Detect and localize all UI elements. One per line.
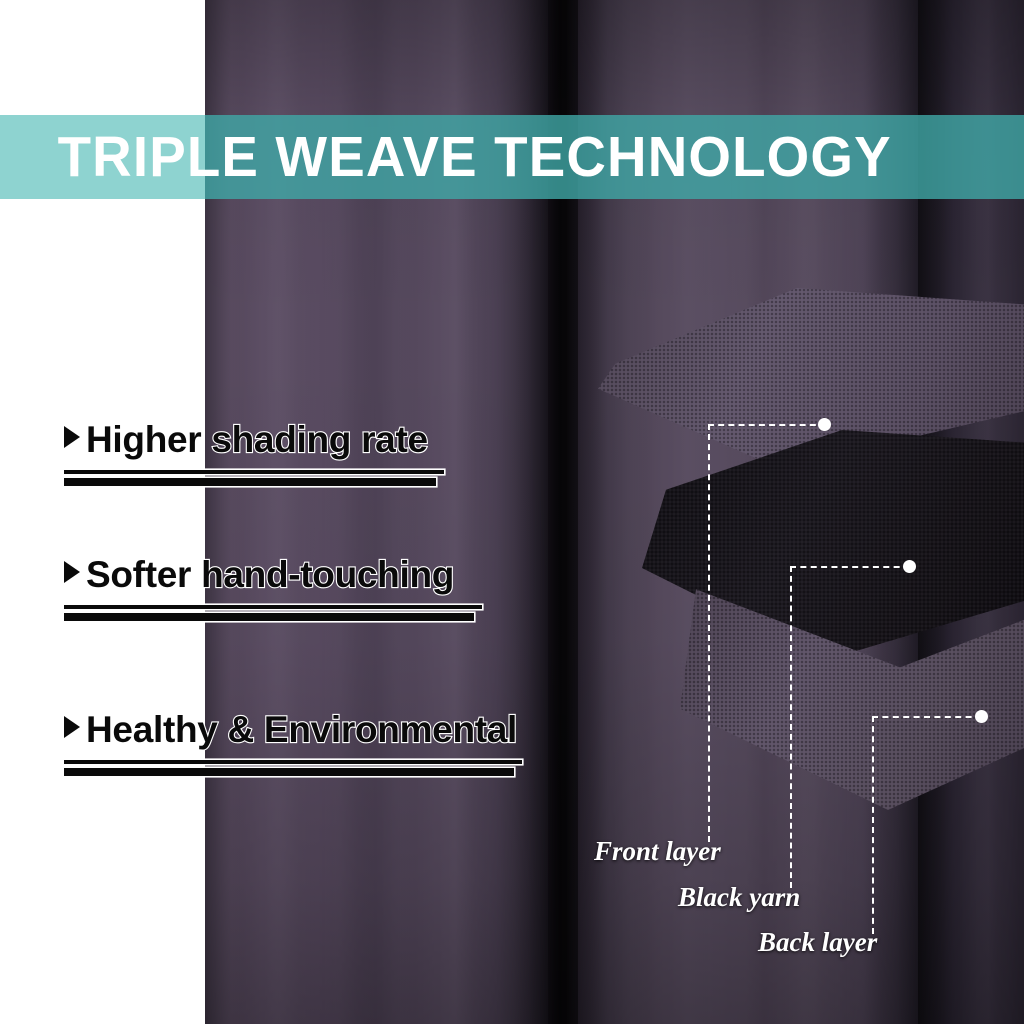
feature-label: Softer hand-touching bbox=[86, 556, 454, 593]
layer-label-black-yarn: Black yarn bbox=[678, 884, 800, 911]
feature-item-softer-hand-touching: Softer hand-touching bbox=[64, 556, 454, 623]
feature-underline bbox=[64, 468, 428, 488]
triangle-right-icon bbox=[64, 716, 80, 738]
underline-thick-bar bbox=[64, 478, 436, 486]
feature-label: Healthy & Environmental bbox=[86, 711, 517, 748]
product-infographic: TRIPLE WEAVE TECHNOLOGY Higher shading r… bbox=[0, 0, 1024, 1024]
underline-thick-bar bbox=[64, 768, 514, 776]
triangle-right-icon bbox=[64, 426, 80, 448]
feature-underline bbox=[64, 603, 454, 623]
underline-thin-bar bbox=[64, 760, 522, 764]
fabric-layer-diagram bbox=[560, 280, 1024, 840]
feature-item-healthy-environmental: Healthy & Environmental bbox=[64, 711, 517, 778]
underline-thin-bar bbox=[64, 605, 482, 609]
layer-label-back: Back layer bbox=[758, 929, 877, 956]
feature-underline bbox=[64, 758, 517, 778]
underline-thick-bar bbox=[64, 613, 474, 621]
feature-label: Higher shading rate bbox=[86, 421, 428, 458]
feature-list: Higher shading rate Softer hand-touching… bbox=[0, 0, 600, 1024]
feature-item-higher-shading-rate: Higher shading rate bbox=[64, 421, 428, 488]
underline-thin-bar bbox=[64, 470, 444, 474]
triangle-right-icon bbox=[64, 561, 80, 583]
layer-label-front: Front layer bbox=[594, 838, 721, 865]
